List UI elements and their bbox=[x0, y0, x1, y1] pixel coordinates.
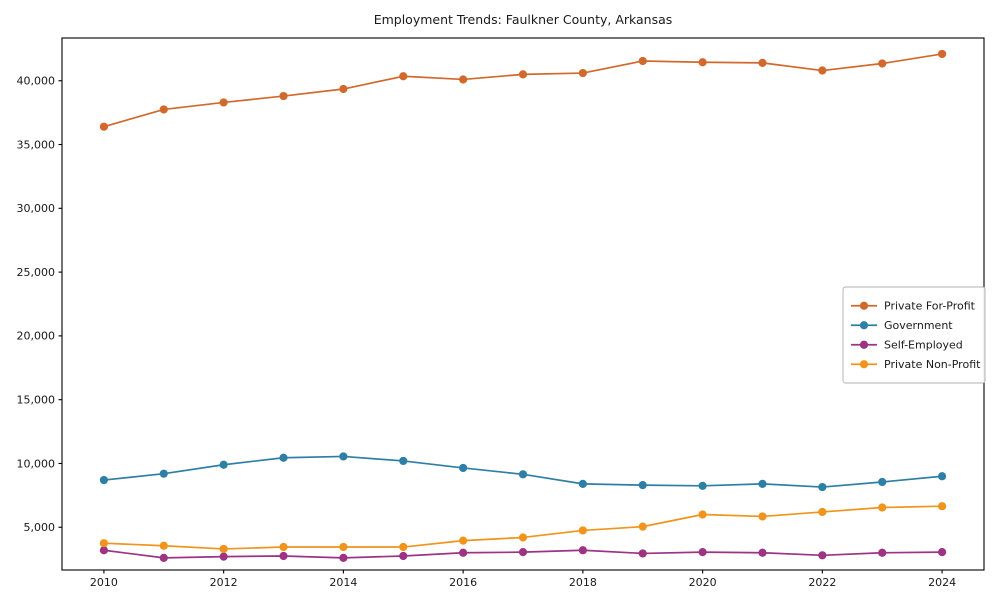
y-tick-label: 15,000 bbox=[17, 393, 56, 406]
false bbox=[938, 50, 946, 58]
false bbox=[699, 482, 707, 490]
series-line bbox=[104, 54, 942, 127]
line-chart: Employment Trends: Faulkner County, Arka… bbox=[0, 0, 1000, 600]
legend-item-label: Private Non-Profit bbox=[884, 358, 981, 371]
series-line bbox=[104, 506, 942, 549]
false bbox=[579, 546, 587, 554]
false bbox=[758, 512, 766, 520]
false bbox=[160, 470, 168, 478]
false bbox=[699, 510, 707, 518]
false bbox=[938, 472, 946, 480]
false bbox=[459, 75, 467, 83]
false bbox=[399, 543, 407, 551]
chart-title-group: Employment Trends: Faulkner County, Arka… bbox=[374, 12, 673, 27]
false bbox=[459, 537, 467, 545]
y-axis-ticks: 5,00010,00015,00020,00025,00030,00035,00… bbox=[17, 75, 63, 535]
y-tick-label: 30,000 bbox=[17, 202, 56, 215]
legend-item-label: Private For-Profit bbox=[884, 300, 976, 313]
legend-swatch-marker bbox=[860, 321, 868, 329]
false bbox=[399, 457, 407, 465]
false bbox=[878, 478, 886, 486]
false bbox=[339, 543, 347, 551]
false bbox=[639, 481, 647, 489]
series-private-for-profit bbox=[100, 50, 946, 131]
false bbox=[399, 72, 407, 80]
false bbox=[279, 92, 287, 100]
y-tick-label: 10,000 bbox=[17, 457, 56, 470]
x-tick-label: 2020 bbox=[689, 576, 717, 589]
x-tick-label: 2018 bbox=[569, 576, 597, 589]
false bbox=[100, 123, 108, 131]
false bbox=[818, 551, 826, 559]
false bbox=[160, 105, 168, 113]
false bbox=[399, 552, 407, 560]
false bbox=[639, 57, 647, 65]
false bbox=[100, 546, 108, 554]
series-private-non-profit bbox=[100, 502, 946, 553]
legend-swatch-marker bbox=[860, 341, 868, 349]
false bbox=[818, 66, 826, 74]
legend-swatch-marker bbox=[860, 360, 868, 368]
x-axis-ticks: 20102012201420162018202020222024 bbox=[90, 570, 956, 589]
x-tick-label: 2014 bbox=[329, 576, 357, 589]
false bbox=[220, 545, 228, 553]
false bbox=[339, 452, 347, 460]
false bbox=[818, 508, 826, 516]
false bbox=[699, 548, 707, 556]
false bbox=[279, 454, 287, 462]
y-tick-label: 25,000 bbox=[17, 266, 56, 279]
false bbox=[878, 549, 886, 557]
false bbox=[279, 543, 287, 551]
false bbox=[339, 554, 347, 562]
legend-swatch-marker bbox=[860, 302, 868, 310]
x-tick-label: 2012 bbox=[210, 576, 238, 589]
false bbox=[758, 549, 766, 557]
false bbox=[699, 58, 707, 66]
false bbox=[459, 464, 467, 472]
x-tick-label: 2024 bbox=[928, 576, 956, 589]
data-series-layer bbox=[100, 50, 946, 562]
y-tick-label: 40,000 bbox=[17, 75, 56, 88]
y-tick-label: 20,000 bbox=[17, 330, 56, 343]
chart-legend: Private For-ProfitGovernmentSelf-Employe… bbox=[843, 287, 985, 383]
false bbox=[818, 483, 826, 491]
y-tick-label: 35,000 bbox=[17, 138, 56, 151]
legend-item-label: Self-Employed bbox=[884, 339, 963, 352]
x-tick-label: 2010 bbox=[90, 576, 118, 589]
false bbox=[878, 59, 886, 67]
false bbox=[519, 470, 527, 478]
series-government bbox=[100, 452, 946, 491]
false bbox=[220, 553, 228, 561]
false bbox=[519, 548, 527, 556]
y-tick-label: 5,000 bbox=[24, 521, 56, 534]
false bbox=[459, 549, 467, 557]
x-tick-label: 2022 bbox=[808, 576, 836, 589]
false bbox=[878, 503, 886, 511]
chart-figure: Employment Trends: Faulkner County, Arka… bbox=[0, 0, 1000, 600]
false bbox=[160, 542, 168, 550]
false bbox=[100, 539, 108, 547]
false bbox=[579, 480, 587, 488]
false bbox=[579, 526, 587, 534]
false bbox=[639, 549, 647, 557]
false bbox=[100, 476, 108, 484]
false bbox=[579, 69, 587, 77]
false bbox=[220, 461, 228, 469]
false bbox=[279, 552, 287, 560]
false bbox=[938, 502, 946, 510]
x-tick-label: 2016 bbox=[449, 576, 477, 589]
false bbox=[519, 533, 527, 541]
false bbox=[220, 98, 228, 106]
false bbox=[938, 548, 946, 556]
false bbox=[519, 70, 527, 78]
false bbox=[639, 523, 647, 531]
false bbox=[339, 85, 347, 93]
false bbox=[160, 554, 168, 562]
false bbox=[758, 59, 766, 67]
chart-title: Employment Trends: Faulkner County, Arka… bbox=[374, 12, 673, 27]
false bbox=[758, 480, 766, 488]
legend-item-label: Government bbox=[884, 319, 953, 332]
